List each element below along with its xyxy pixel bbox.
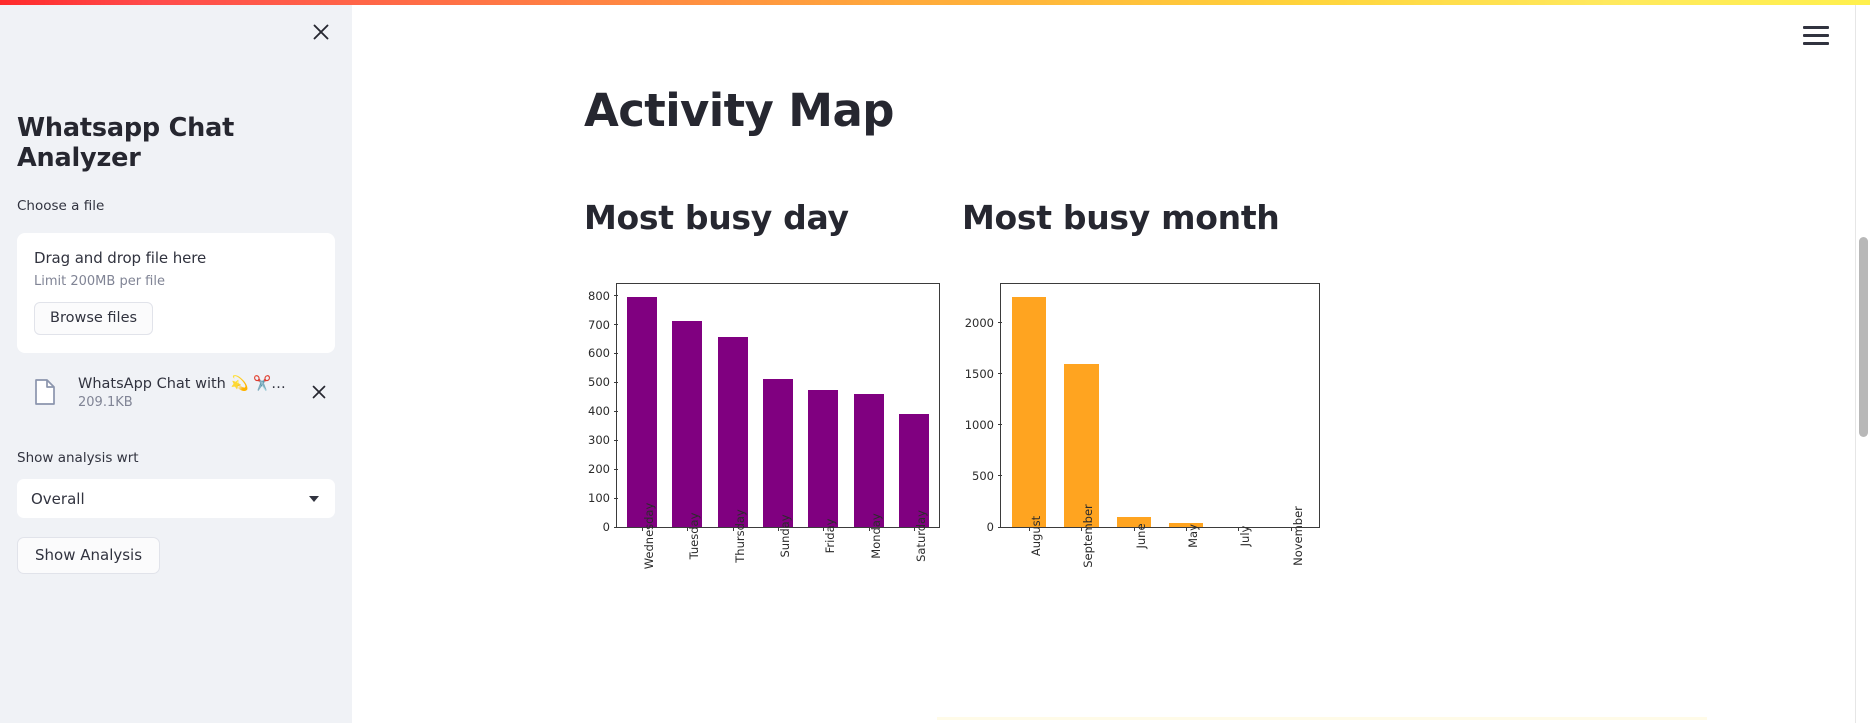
- x-tick-label: Wednesday: [642, 503, 656, 570]
- dropzone-limit-text: Limit 200MB per file: [34, 274, 318, 289]
- scrollbar-thumb[interactable]: [1859, 237, 1868, 437]
- app-title: Whatsapp Chat Analyzer: [17, 113, 352, 173]
- plot-area-day: 0100200300400500600700800 WednesdayTuesd…: [616, 283, 940, 528]
- x-label-slot: September: [1055, 527, 1107, 647]
- x-tick-label: Saturday: [914, 510, 928, 562]
- bar: [627, 297, 657, 527]
- bar-slot: [1265, 284, 1317, 527]
- x-label-slot: May: [1160, 527, 1212, 647]
- x-tick-label: Friday: [823, 519, 837, 554]
- sidebar: Whatsapp Chat Analyzer Choose a file Dra…: [0, 5, 352, 723]
- x-label-slot: June: [1108, 527, 1160, 647]
- sidebar-close-button[interactable]: [304, 15, 338, 49]
- x-tick-label: Thursday: [733, 509, 747, 562]
- x-label-slot: November: [1265, 527, 1317, 647]
- x-tick-label: May: [1186, 524, 1200, 548]
- bar: [672, 321, 702, 527]
- bar-slot: [755, 284, 800, 527]
- page-title: Activity Map: [584, 84, 894, 137]
- bar: [718, 337, 748, 527]
- analysis-wrt-label: Show analysis wrt: [17, 448, 139, 470]
- plot-area-month: 0500100015002000 AugustSeptemberJuneMayJ…: [1000, 283, 1320, 528]
- hamburger-bar: [1803, 26, 1829, 29]
- bar-slot: [892, 284, 937, 527]
- x-tick-label: Sunday: [778, 514, 792, 557]
- close-icon: [311, 22, 331, 42]
- remove-file-button[interactable]: [307, 384, 331, 400]
- x-tick-label: Monday: [869, 513, 883, 558]
- section-divider: [937, 717, 1707, 720]
- bar-slot: [846, 284, 891, 527]
- bar-slot: [619, 284, 664, 527]
- bar-slot: [664, 284, 709, 527]
- file-icon: [31, 379, 59, 406]
- show-analysis-button[interactable]: Show Analysis: [17, 537, 160, 574]
- app-root: Whatsapp Chat Analyzer Choose a file Dra…: [0, 0, 1870, 723]
- select-selected-value: Overall: [31, 490, 309, 508]
- chart-most-busy-month: 0500100015002000 AugustSeptemberJuneMayJ…: [962, 278, 1550, 608]
- hamburger-bar: [1803, 42, 1829, 45]
- close-icon: [311, 384, 327, 400]
- browse-files-button[interactable]: Browse files: [34, 302, 153, 335]
- bar-series-month: [1001, 284, 1319, 527]
- x-label-slot: Tuesday: [664, 527, 709, 647]
- uploaded-file-row: WhatsApp Chat with 💫 ✂️ … 209.1KB: [31, 369, 331, 415]
- bar-slot: [1212, 284, 1264, 527]
- x-tick-label: June: [1134, 523, 1148, 548]
- file-dropzone[interactable]: Drag and drop file here Limit 200MB per …: [17, 233, 335, 353]
- x-label-slot: Sunday: [755, 527, 800, 647]
- bar-series-day: [617, 284, 939, 527]
- x-label-slot: Wednesday: [619, 527, 664, 647]
- bar: [808, 390, 838, 527]
- uploaded-file-name: WhatsApp Chat with 💫 ✂️ …: [78, 375, 290, 392]
- bar: [854, 394, 884, 527]
- bar: [1064, 364, 1099, 527]
- uploaded-file-size: 209.1KB: [78, 395, 305, 410]
- bar-slot: [1055, 284, 1107, 527]
- section-title-most-busy-day: Most busy day: [584, 198, 849, 237]
- x-label-slot: August: [1003, 527, 1055, 647]
- bar-slot: [1160, 284, 1212, 527]
- top-accent-gradient-bar: [0, 0, 1870, 5]
- choose-file-label: Choose a file: [17, 196, 104, 218]
- bar-slot: [1003, 284, 1055, 527]
- x-tick-label: July: [1238, 526, 1252, 547]
- file-meta: WhatsApp Chat with 💫 ✂️ … 209.1KB: [78, 375, 305, 410]
- x-axis-labels-month: AugustSeptemberJuneMayJulyNovember: [1001, 527, 1319, 647]
- dropzone-title: Drag and drop file here: [34, 249, 318, 267]
- bar-slot: [1108, 284, 1160, 527]
- chevron-down-icon: [309, 496, 319, 502]
- x-label-slot: Saturday: [892, 527, 937, 647]
- bar: [1012, 297, 1047, 527]
- bar-slot: [710, 284, 755, 527]
- x-label-slot: Friday: [801, 527, 846, 647]
- document-icon: [34, 379, 56, 406]
- bar-slot: [801, 284, 846, 527]
- x-tick-label: Tuesday: [687, 513, 701, 560]
- section-title-most-busy-month: Most busy month: [962, 198, 1280, 237]
- x-tick-label: November: [1291, 506, 1305, 566]
- main-content: Activity Map Most busy day Most busy mon…: [352, 5, 1855, 723]
- hamburger-bar: [1803, 34, 1829, 37]
- hamburger-menu-icon[interactable]: [1803, 22, 1833, 48]
- x-tick-label: September: [1081, 504, 1095, 568]
- x-label-slot: July: [1212, 527, 1264, 647]
- x-tick-label: August: [1029, 516, 1043, 556]
- page-scrollbar[interactable]: [1855, 5, 1870, 723]
- x-label-slot: Thursday: [710, 527, 755, 647]
- x-axis-labels-day: WednesdayTuesdayThursdaySundayFridayMond…: [617, 527, 939, 647]
- x-label-slot: Monday: [846, 527, 891, 647]
- bar: [763, 379, 793, 527]
- analysis-target-select[interactable]: Overall: [17, 479, 335, 518]
